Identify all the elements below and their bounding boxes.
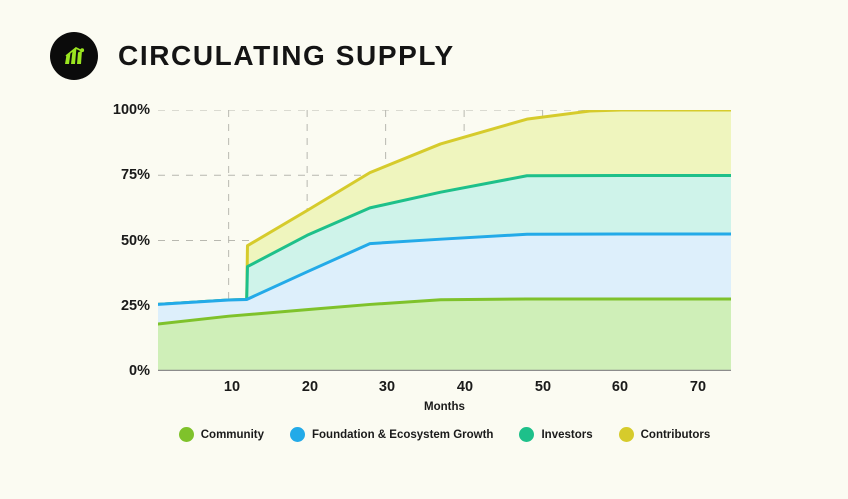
x-tick-label: 60: [612, 379, 628, 395]
x-tick-label: 40: [457, 379, 473, 395]
x-tick-label: 10: [224, 379, 240, 395]
x-axis: 10 20 30 40 50 60 70: [158, 371, 731, 397]
y-tick-label: 50%: [121, 233, 150, 249]
y-tick-label: 75%: [121, 167, 150, 183]
x-tick-label: 70: [690, 379, 706, 395]
x-tick-label: 20: [302, 379, 318, 395]
legend-swatch-icon: [179, 427, 194, 442]
x-tick-label: 50: [535, 379, 551, 395]
legend-swatch-icon: [519, 427, 534, 442]
chart-header: CIRCULATING SUPPLY: [50, 32, 455, 80]
area-chart-svg: [158, 110, 731, 371]
x-axis-title: Months: [158, 401, 731, 413]
legend-item-foundation-ecosystem-growth[interactable]: Foundation & Ecosystem Growth: [290, 427, 493, 442]
legend-label: Contributors: [641, 429, 711, 441]
chart-canvas: CIRCULATING SUPPLY 100% 75% 50% 25% 0% 1…: [0, 0, 848, 499]
page-title: CIRCULATING SUPPLY: [118, 40, 455, 72]
chart-legend: Community Foundation & Ecosystem Growth …: [158, 427, 731, 442]
brand-logo: [50, 32, 98, 80]
x-tick-label: 30: [379, 379, 395, 395]
plot-area: [158, 110, 731, 371]
y-axis: 100% 75% 50% 25% 0%: [96, 110, 150, 371]
y-tick-label: 0%: [129, 363, 150, 379]
chart-bars-up-icon: [60, 42, 88, 70]
legend-item-contributors[interactable]: Contributors: [619, 427, 711, 442]
y-tick-label: 100%: [113, 102, 150, 118]
legend-swatch-icon: [619, 427, 634, 442]
legend-label: Foundation & Ecosystem Growth: [312, 429, 493, 441]
legend-label: Investors: [541, 429, 592, 441]
legend-item-investors[interactable]: Investors: [519, 427, 592, 442]
legend-item-community[interactable]: Community: [179, 427, 264, 442]
legend-label: Community: [201, 429, 264, 441]
legend-swatch-icon: [290, 427, 305, 442]
y-tick-label: 25%: [121, 298, 150, 314]
